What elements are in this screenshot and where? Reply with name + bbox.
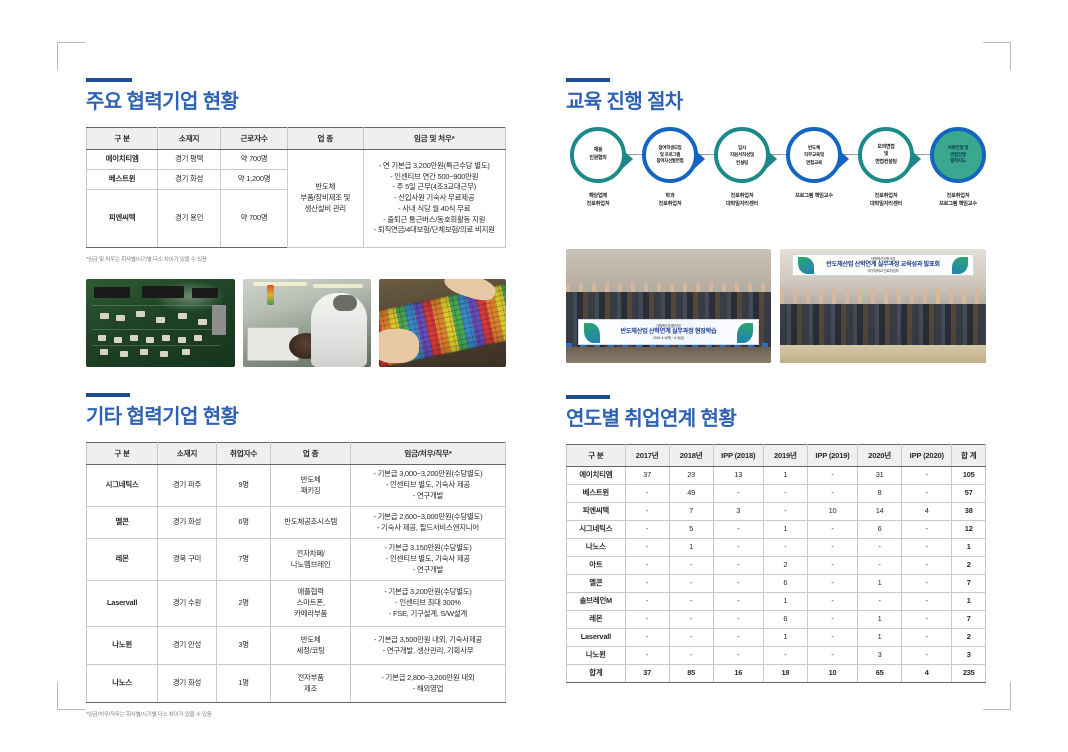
detail-item: - 기본급 2,600~3,000만원(수당별도)	[353, 512, 503, 523]
flow-step-4: 반도체 직무교육및 면접교육 프로그램 책임교수	[784, 127, 844, 200]
placement-value: -	[713, 593, 763, 611]
benefit-item: - 인센티브 연간 500~900만원	[366, 172, 504, 183]
th-total: 합 계	[952, 445, 986, 467]
benefit-item: - 퇴직연금/4대보험/단체보험/의료 비지원	[366, 225, 504, 236]
placement-value: -	[763, 647, 807, 665]
table-footnote: *임금/처우/직무는 회사별/시기별 다소 차이가 있을 수 있음	[86, 710, 506, 718]
industry-line: 반도체	[273, 635, 348, 646]
th-wage-duty: 임금/처우/직무*	[350, 443, 505, 465]
detail-item: - 기본급 2,800~3,200만원 내외	[353, 673, 503, 684]
placement-value: -	[713, 629, 763, 647]
flow-step-line: 입사	[730, 144, 754, 151]
details-cell: - 기본급 3,150만원(수당별도) - 인센티브 별도, 기숙사 제공 - …	[350, 539, 505, 581]
flow-step-line: 인원협의	[589, 155, 606, 163]
th-location: 소재지	[158, 128, 221, 150]
placement-value: -	[902, 575, 952, 593]
company-location: 경기 화성	[158, 170, 221, 190]
placement-value: -	[625, 593, 669, 611]
company-name: 솔브레인M	[567, 593, 626, 611]
flow-step-5: 모의면접 및 면접컨설팅 진로취업처 대학일자리센터	[856, 127, 916, 208]
flow-step-line: 면접교육	[804, 159, 824, 166]
table-footnote: *임금 및 처우는 회사별/시기별 다소 차이가 있을 수 있음	[86, 255, 506, 263]
company-name: 나노윈	[87, 627, 158, 665]
placement-value: 4	[902, 503, 952, 521]
benefits-cell: - 연 기본급 3,200만원(특근수당 별도) - 인센티브 연간 500~9…	[363, 150, 506, 248]
th-ipp-2020: IPP (2020)	[902, 445, 952, 467]
placement-value: -	[807, 539, 857, 557]
placement-value: -	[625, 611, 669, 629]
detail-item: - 인센티브 별도, 기숙사 제공	[353, 480, 503, 491]
flow-step-circle: 입사 지원서작성및 컨설팅	[714, 127, 770, 183]
section-education-process: 교육 진행 절차 채용 인원협의 해당업체	[566, 78, 986, 363]
placement-value: 2	[952, 629, 986, 647]
detail-item: - 기본급 3,500만원 내외, 기숙사제공	[353, 635, 503, 646]
flow-arrow-icon	[622, 149, 633, 169]
industry-line: 전자부품	[273, 673, 348, 684]
placement-value: -	[763, 485, 807, 503]
placement-value: 37	[625, 467, 669, 485]
th-industry: 업 종	[271, 443, 351, 465]
placement-value: 1	[858, 629, 902, 647]
placement-value: -	[669, 611, 713, 629]
detail-item: - 기본급 3,000~3,200만원(수당별도)	[353, 469, 503, 480]
details-cell: - 기본급 3,000~3,200만원(수당별도) - 인센티브 별도, 기숙사…	[350, 465, 505, 507]
details-cell: - 기본급 2,800~3,200만원 내외 - 해외영업	[350, 665, 505, 703]
table-row: 아트---2---2	[567, 557, 986, 575]
placement-value: 6	[858, 521, 902, 539]
flow-arrow-icon	[766, 149, 777, 169]
placement-value: 38	[952, 503, 986, 521]
placement-value: -	[625, 485, 669, 503]
table-row: 나노윈 경기 안성 3명 반도체 세정/코팅 - 기본급 3,500만원 내외,…	[87, 627, 506, 665]
flow-step-line: 컨설팅	[730, 159, 754, 166]
benefit-item: - 신입사원 기숙사 무료제공	[366, 193, 504, 204]
company-location: 경북 구미	[158, 539, 217, 581]
placement-value: -	[902, 485, 952, 503]
flow-step-2: 참여학생모집 및 프로그램 참여자선발면접 학과 진로취업처	[640, 127, 700, 208]
detail-item: - 기숙사 제공, 필드서비스엔지니어	[353, 523, 503, 534]
placement-value: -	[625, 521, 669, 539]
placement-value: 7	[952, 575, 986, 593]
industry-line: 전자차폐/	[273, 549, 348, 560]
total-value: 4	[902, 665, 952, 683]
flow-step-line: 모의면접	[875, 144, 897, 152]
company-location: 경기 화성	[158, 507, 217, 539]
accent-bar	[86, 393, 130, 397]
placement-value: 23	[669, 467, 713, 485]
placement-value: -	[902, 611, 952, 629]
table-row: 레몬---6-1-7	[567, 611, 986, 629]
placement-value: 1	[763, 593, 807, 611]
industry-line: 세정/코팅	[273, 646, 348, 657]
table-row: 솔브레인M---1---1	[567, 593, 986, 611]
industry-cell: 전자부품 제조	[271, 665, 351, 703]
placement-value: 7	[669, 503, 713, 521]
details-cell: - 기본급 3,200만원(수당별도) - 인센티브 최대 300% - FSE…	[350, 581, 505, 627]
flow-step-6: 서류전형 및 면접전형 밀착지도 진로취업처 프로그램 책임교수	[928, 127, 988, 208]
company-name: 아트	[567, 557, 626, 575]
placement-value: -	[669, 575, 713, 593]
detail-item: - 연구개발	[353, 565, 503, 576]
total-value: 18	[763, 665, 807, 683]
flow-step-line: 직무교육및	[804, 151, 824, 158]
placement-value: -	[713, 485, 763, 503]
flow-arrow-icon	[838, 149, 849, 169]
industry-cell: 반도체 세정/코팅	[271, 627, 351, 665]
table-row: Laservall 경기 수원 2명 애플협력 스마트폰, 카메라부품 - 기본…	[87, 581, 506, 627]
company-name: 나노스	[87, 665, 158, 703]
industry-cell: 반도체 부품/장비제조 및 생산설비 관리	[288, 150, 363, 248]
education-flow-diagram: 채용 인원협의 해당업체 진로취업처 참여학생모집 및 프로그램	[566, 127, 986, 237]
education-results-presentation-photo: 대학혁신지원사업 반도체산업 산학연계 실무과정 교육성과 발표회 대구대학교 …	[780, 249, 986, 363]
th-2017: 2017년	[625, 445, 669, 467]
placement-value: -	[713, 557, 763, 575]
page-title-yearly-placement: 연도별 취업연계 현황	[566, 408, 986, 430]
company-name: 에이치티엠	[567, 467, 626, 485]
th-2018: 2018년	[669, 445, 713, 467]
table-total-row: 합계3785161810654235	[567, 665, 986, 683]
company-name: 멜콘	[567, 575, 626, 593]
placement-value: 3	[713, 503, 763, 521]
th-division: 구 분	[567, 445, 626, 467]
accent-bar	[566, 395, 610, 399]
photo-strip	[86, 279, 506, 367]
section-yearly-placement: 연도별 취업연계 현황 구 분 2017년 2018년 IPP (2018) 2…	[566, 395, 986, 683]
placement-value: 7	[952, 611, 986, 629]
placement-value: -	[625, 503, 669, 521]
company-name: 피엔씨텍	[87, 190, 158, 248]
placement-value: -	[807, 593, 857, 611]
total-value: 10	[807, 665, 857, 683]
placement-value: -	[763, 503, 807, 521]
company-workers: 약 1,200명	[221, 170, 288, 190]
placement-value: -	[625, 629, 669, 647]
industry-line: 제조	[273, 684, 348, 695]
placement-value: -	[807, 521, 857, 539]
company-name: Laservall	[567, 629, 626, 647]
industry-line: 반도체	[290, 182, 360, 193]
flow-step-line: 면접컨설팅	[875, 159, 897, 167]
flow-step-caption: 해당업체 진로취업처	[568, 192, 628, 208]
industry-cell: 전자차폐/ 나노멤브레인	[271, 539, 351, 581]
banner-title: 반도체산업 산학연계 실무과정 현장학습	[621, 328, 717, 335]
th-employed: 취업자수	[216, 443, 270, 465]
company-name: Laservall	[87, 581, 158, 627]
company-count: 7명	[216, 539, 270, 581]
silicon-wafer-photo	[379, 279, 506, 367]
placement-value: 5	[669, 521, 713, 539]
placement-value: 1	[858, 611, 902, 629]
table-row: 나노스 경기 화성 1명 전자부품 제조 - 기본급 2,800~3,200만원…	[87, 665, 506, 703]
flow-step-circle: 채용 인원협의	[570, 127, 626, 183]
placement-value: -	[807, 575, 857, 593]
company-workers: 약 700명	[221, 190, 288, 248]
placement-value: 14	[858, 503, 902, 521]
benefit-item: - 출퇴근 통근버스/동호회활동 지원	[366, 215, 504, 226]
detail-item: - 기본급 3,200만원(수당별도)	[353, 587, 503, 598]
flow-step-line: 밀착지도	[948, 158, 969, 165]
placement-value: -	[669, 629, 713, 647]
company-name: 나노윈	[567, 647, 626, 665]
placement-value: -	[902, 647, 952, 665]
placement-value: -	[858, 557, 902, 575]
company-count: 9명	[216, 465, 270, 507]
placement-value: -	[902, 467, 952, 485]
placement-value: -	[902, 539, 952, 557]
industry-line: 패키징	[273, 486, 348, 497]
company-name: 레몬	[567, 611, 626, 629]
table-row: 나노스-1-----1	[567, 539, 986, 557]
placement-value: -	[625, 647, 669, 665]
detail-item: - FSE, 기구설계, S/W설계	[353, 609, 503, 620]
th-ipp-2018: IPP (2018)	[713, 445, 763, 467]
industry-cell: 애플협력 스마트폰, 카메라부품	[271, 581, 351, 627]
detail-item: - 인센티브 별도, 기숙사 제공	[353, 554, 503, 565]
table-row: 레몬 경북 구미 7명 전자차폐/ 나노멤브레인 - 기본급 3,150만원(수…	[87, 539, 506, 581]
placement-value: -	[902, 629, 952, 647]
placement-value: -	[625, 539, 669, 557]
cleanroom-worker-photo	[243, 279, 372, 367]
table-row: 에이치티엠 경기 평택 약 700명 반도체 부품/장비제조 및 생산설비 관리…	[87, 150, 506, 170]
flow-step-line: 서류전형 및	[948, 145, 969, 152]
placement-value: 1	[858, 575, 902, 593]
placement-value: 12	[952, 521, 986, 539]
placement-value: -	[902, 557, 952, 575]
flow-arrow-icon	[694, 149, 705, 169]
benefit-item: - 주 5일 근무(4조3교대근무)	[366, 182, 504, 193]
table-header-row: 구 분 2017년 2018년 IPP (2018) 2019년 IPP (20…	[567, 445, 986, 467]
placement-value: 13	[713, 467, 763, 485]
placement-value: 2	[763, 557, 807, 575]
flow-step-line: 지원서작성및	[730, 151, 754, 158]
industry-line: 스마트폰,	[273, 598, 348, 609]
placement-value: -	[625, 575, 669, 593]
table-row: Laservall---1-1-2	[567, 629, 986, 647]
photo-banner: 대학혁신지원사업 반도체산업 산학연계 실무과정 교육성과 발표회 대구대학교 …	[792, 254, 973, 276]
right-column: 교육 진행 절차 채용 인원협의 해당업체	[566, 78, 986, 683]
field-training-group-photo: 대학혁신지원사업 반도체산업 산학연계 실무과정 현장학습 2019. 4. 4…	[566, 249, 771, 363]
company-location: 경기 안성	[158, 627, 217, 665]
company-location: 경기 수원	[158, 581, 217, 627]
th-2020: 2020년	[858, 445, 902, 467]
industry-line: 나노멤브레인	[273, 560, 348, 571]
detail-item: - 연구개발	[353, 491, 503, 502]
page-title-other-partners: 기타 협력기업 현황	[86, 406, 506, 428]
total-value: 37	[625, 665, 669, 683]
placement-value: -	[902, 521, 952, 539]
flow-step-line: 채용	[589, 147, 606, 155]
placement-value: -	[763, 539, 807, 557]
total-value: 65	[858, 665, 902, 683]
flow-step-line: 반도체	[804, 144, 824, 151]
placement-value: -	[713, 647, 763, 665]
pcb-board-photo	[86, 279, 235, 367]
detail-item: - 인센티브 최대 300%	[353, 598, 503, 609]
flow-step-line: 참여자선발면접	[657, 158, 684, 165]
placement-value: -	[807, 629, 857, 647]
brochure-page: 주요 협력기업 현황 구 분 소재지 근로자수 업 종 임금 및 처우*	[0, 0, 1068, 752]
placement-value: 3	[858, 647, 902, 665]
industry-cell: 반도체공조시스템	[271, 507, 351, 539]
total-label: 합계	[567, 665, 626, 683]
flow-step-caption: 진로취업처 프로그램 책임교수	[928, 192, 988, 208]
photo-banner: 대학혁신지원사업 반도체산업 산학연계 실무과정 현장학습 2019. 4. 4…	[578, 319, 758, 345]
placement-value: -	[858, 593, 902, 611]
placement-value: 1	[952, 593, 986, 611]
flow-arrow-icon	[910, 149, 921, 169]
flow-step-caption: 진로취업처 대학일자리센터	[856, 192, 916, 208]
detail-item: - 연구개발, 생산관리, 기획사무	[353, 646, 503, 657]
flow-step-caption: 진로취업처 대학일자리센터	[712, 192, 772, 208]
flow-step-circle: 서류전형 및 면접전형 밀착지도	[930, 127, 986, 183]
company-count: 2명	[216, 581, 270, 627]
education-photo-strip: 대학혁신지원사업 반도체산업 산학연계 실무과정 현장학습 2019. 4. 4…	[566, 249, 986, 363]
company-location: 경기 화성	[158, 665, 217, 703]
placement-value: -	[669, 557, 713, 575]
table-row: 나노윈-----3-3	[567, 647, 986, 665]
section-main-partners: 주요 협력기업 현황 구 분 소재지 근로자수 업 종 임금 및 처우*	[86, 78, 506, 367]
benefit-item: - 연 기본급 3,200만원(특근수당 별도)	[366, 161, 504, 172]
placement-value: -	[625, 557, 669, 575]
table-header-row: 구 분 소재지 취업자수 업 종 임금/처우/직무*	[87, 443, 506, 465]
crop-mark-bottom-left	[57, 682, 85, 710]
company-location: 경기 용인	[158, 190, 221, 248]
company-name: 나노스	[567, 539, 626, 557]
table-row: 에이치티엠3723131-31-105	[567, 467, 986, 485]
company-name: 에이치티엠	[87, 150, 158, 170]
flow-step-caption: 학과 진로취업처	[640, 192, 700, 208]
placement-value: 1	[763, 467, 807, 485]
total-value: 85	[669, 665, 713, 683]
th-location: 소재지	[158, 443, 217, 465]
placement-value: 105	[952, 467, 986, 485]
placement-value: -	[669, 647, 713, 665]
crop-mark-top-right	[983, 42, 1011, 70]
crop-mark-bottom-right	[983, 682, 1011, 710]
flow-step-circle: 반도체 직무교육및 면접교육	[786, 127, 842, 183]
placement-value: -	[713, 539, 763, 557]
industry-line: 카메라부품	[273, 609, 348, 620]
placement-value: 6	[763, 611, 807, 629]
table-row: 시그네틱스-5-1-6-12	[567, 521, 986, 539]
th-2019: 2019년	[763, 445, 807, 467]
industry-line: 부품/장비제조 및	[290, 193, 360, 204]
placement-value: 3	[952, 647, 986, 665]
flow-step-circle: 참여학생모집 및 프로그램 참여자선발면접	[642, 127, 698, 183]
flow-step-circle: 모의면접 및 면접컨설팅	[858, 127, 914, 183]
benefit-item: - 사내 식당 월 40식 무료	[366, 204, 504, 215]
company-location: 경기 평택	[158, 150, 221, 170]
crop-mark-top-left	[57, 42, 85, 70]
placement-value: -	[807, 611, 857, 629]
placement-value: -	[713, 575, 763, 593]
industry-cell: 반도체 패키징	[271, 465, 351, 507]
placement-value: 2	[952, 557, 986, 575]
placement-value: -	[807, 557, 857, 575]
table-row: 시그네틱스 경기 파주 9명 반도체 패키징 - 기본급 3,000~3,200…	[87, 465, 506, 507]
total-value: 235	[952, 665, 986, 683]
left-column: 주요 협력기업 현황 구 분 소재지 근로자수 업 종 임금 및 처우*	[86, 78, 506, 718]
th-workers: 근로자수	[221, 128, 288, 150]
accent-bar	[86, 78, 132, 82]
company-count: 3명	[216, 627, 270, 665]
table-row: 멜콘---6-1-7	[567, 575, 986, 593]
banner-title: 반도체산업 산학연계 실무과정 교육성과 발표회	[826, 261, 940, 268]
details-cell: - 기본급 2,600~3,000만원(수당별도) - 기숙사 제공, 필드서비…	[350, 507, 505, 539]
placement-value: -	[713, 521, 763, 539]
company-location: 경기 파주	[158, 465, 217, 507]
placement-value: -	[858, 539, 902, 557]
company-count: 1명	[216, 665, 270, 703]
flow-step-line: 및	[875, 151, 897, 159]
placement-value: -	[807, 485, 857, 503]
table-row: 멜콘 경기 화성 6명 반도체공조시스템 - 기본급 2,600~3,000만원…	[87, 507, 506, 539]
company-count: 6명	[216, 507, 270, 539]
th-ipp-2019: IPP (2019)	[807, 445, 857, 467]
flow-step-line: 참여학생모집	[657, 145, 684, 152]
section-other-partners: 기타 협력기업 현황 구 분 소재지 취업자수 업 종 임금/처우/직무*	[86, 393, 506, 718]
placement-value: 57	[952, 485, 986, 503]
placement-value: 1	[952, 539, 986, 557]
placement-value: 1	[763, 629, 807, 647]
placement-value: 1	[669, 539, 713, 557]
company-name: 베스트윈	[567, 485, 626, 503]
flow-step-caption: 프로그램 책임교수	[784, 192, 844, 200]
page-title-education-process: 교육 진행 절차	[566, 91, 986, 113]
placement-value: 8	[858, 485, 902, 503]
total-value: 16	[713, 665, 763, 683]
placement-value: 10	[807, 503, 857, 521]
other-partners-table: 구 분 소재지 취업자수 업 종 임금/처우/직무* 시그네틱스 경기 파주 9…	[86, 442, 506, 703]
placement-value: -	[902, 593, 952, 611]
table-row: 피엔씨텍-73-1014438	[567, 503, 986, 521]
th-division: 구 분	[87, 128, 158, 150]
company-name: 베스트윈	[87, 170, 158, 190]
placement-value: 6	[763, 575, 807, 593]
placement-value: 1	[763, 521, 807, 539]
details-cell: - 기본급 3,500만원 내외, 기숙사제공 - 연구개발, 생산관리, 기획…	[350, 627, 505, 665]
detail-item: - 기본급 3,150만원(수당별도)	[353, 543, 503, 554]
th-industry: 업 종	[288, 128, 363, 150]
table-header-row: 구 분 소재지 근로자수 업 종 임금 및 처우*	[87, 128, 506, 150]
placement-value: -	[669, 593, 713, 611]
yearly-placement-table: 구 분 2017년 2018년 IPP (2018) 2019년 IPP (20…	[566, 444, 986, 683]
placement-value: -	[807, 467, 857, 485]
table-row: 베스트윈-49---8-57	[567, 485, 986, 503]
company-workers: 약 700명	[221, 150, 288, 170]
company-name: 레몬	[87, 539, 158, 581]
placement-value: 49	[669, 485, 713, 503]
page-title-main-partners: 주요 협력기업 현황	[86, 91, 506, 113]
company-name: 시그네틱스	[87, 465, 158, 507]
main-partners-table: 구 분 소재지 근로자수 업 종 임금 및 처우* 에이치티엠 경기 평택 약 …	[86, 127, 506, 248]
industry-line: 반도체공조시스템	[273, 517, 348, 528]
accent-bar	[566, 78, 610, 82]
th-wage: 임금 및 처우*	[363, 128, 506, 150]
company-name: 시그네틱스	[567, 521, 626, 539]
placement-value: -	[713, 611, 763, 629]
company-name: 피엔씨텍	[567, 503, 626, 521]
detail-item: - 해외영업	[353, 684, 503, 695]
industry-line: 반도체	[273, 475, 348, 486]
industry-line: 생산설비 관리	[290, 204, 360, 215]
industry-line: 애플협력	[273, 587, 348, 598]
placement-value: 31	[858, 467, 902, 485]
th-division: 구 분	[87, 443, 158, 465]
flow-step-3: 입사 지원서작성및 컨설팅 진로취업처 대학일자리센터	[712, 127, 772, 208]
company-name: 멜콘	[87, 507, 158, 539]
placement-value: -	[807, 647, 857, 665]
